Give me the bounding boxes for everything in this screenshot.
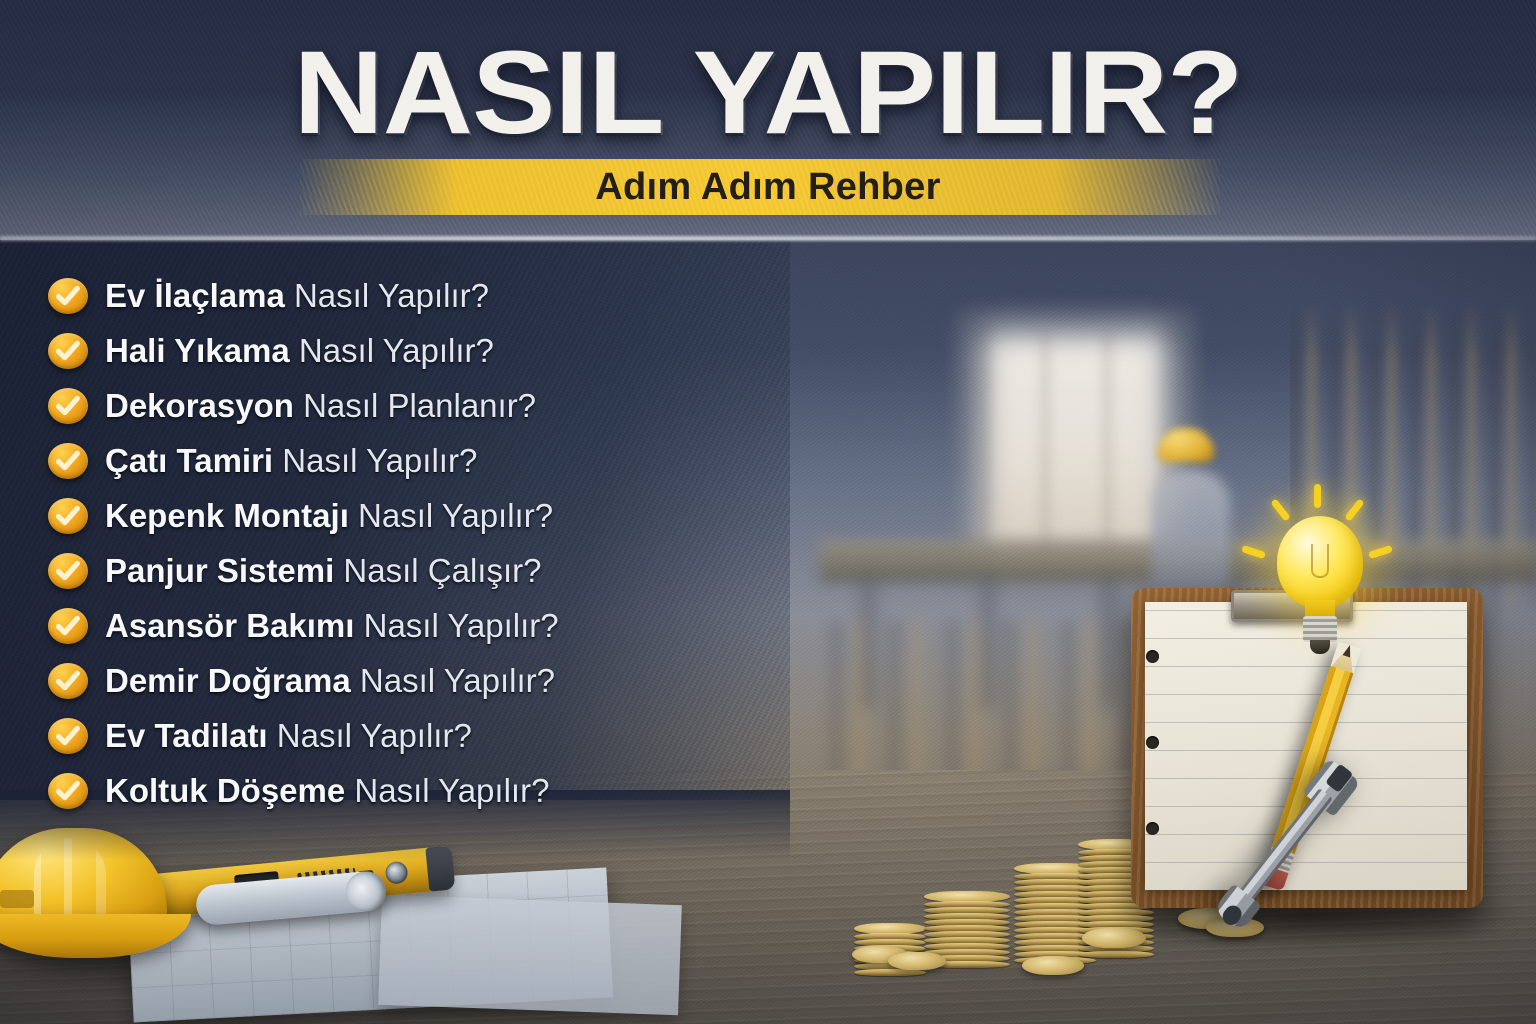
list-item-question: Nasıl Yapılır? xyxy=(268,717,472,754)
list-item-question: Nasıl Yapılır? xyxy=(273,442,477,479)
check-icon xyxy=(48,278,88,314)
check-icon xyxy=(48,663,88,699)
checklist: Ev İlaçlama Nasıl Yapılır?Hali Yıkama Na… xyxy=(48,268,748,818)
paper-hole-2 xyxy=(1146,736,1159,749)
page-subtitle: Adım Adım Rehber xyxy=(0,166,1536,209)
list-item-label: Panjur Sistemi Nasıl Çalışır? xyxy=(105,554,541,587)
list-item-question: Nasıl Yapılır? xyxy=(349,497,553,534)
poster-canvas: NASIL YAPILIR? Adım Adım Rehber Ev İlaçl… xyxy=(0,0,1536,1024)
coin-loose-3 xyxy=(1022,956,1084,975)
list-item-service: Kepenk Montajı xyxy=(105,497,349,534)
check-icon xyxy=(48,608,88,644)
list-item-question: Nasıl Planlanır? xyxy=(294,387,536,424)
list-item-label: Kepenk Montajı Nasıl Yapılır? xyxy=(105,499,553,532)
list-item-question: Nasıl Yapılır? xyxy=(345,772,549,809)
pencil-lead xyxy=(1342,644,1353,658)
paper-sheet-icon xyxy=(378,895,682,1015)
list-item-service: Çatı Tamiri xyxy=(105,442,273,479)
hard-hat-brim xyxy=(0,914,191,958)
list-item-question: Nasıl Yapılır? xyxy=(351,662,555,699)
list-item[interactable]: Çatı Tamiri Nasıl Yapılır? xyxy=(48,433,748,488)
list-item-label: Çatı Tamiri Nasıl Yapılır? xyxy=(105,444,477,477)
list-item-question: Nasıl Yapılır? xyxy=(285,277,489,314)
list-item-service: Hali Yıkama xyxy=(105,332,290,369)
bulb-screw-base xyxy=(1303,616,1337,642)
header: NASIL YAPILIR? Adım Adım Rehber xyxy=(0,0,1536,240)
list-item-label: Asansör Bakımı Nasıl Yapılır? xyxy=(105,609,559,642)
bulb-filament xyxy=(1311,544,1329,578)
list-item-label: Dekorasyon Nasıl Planlanır? xyxy=(105,389,536,422)
list-item[interactable]: Demir Doğrama Nasıl Yapılır? xyxy=(48,653,748,708)
list-item-service: Asansör Bakımı xyxy=(105,607,354,644)
coin-loose-2 xyxy=(888,952,946,970)
list-item-service: Panjur Sistemi xyxy=(105,552,334,589)
list-item[interactable]: Asansör Bakımı Nasıl Yapılır? xyxy=(48,598,748,653)
list-item-service: Koltuk Döşeme xyxy=(105,772,345,809)
check-icon xyxy=(48,498,88,534)
list-item-service: Demir Doğrama xyxy=(105,662,351,699)
paper-hole-3 xyxy=(1146,822,1159,835)
list-item-service: Ev İlaçlama xyxy=(105,277,285,314)
page-title: NASIL YAPILIR? xyxy=(0,34,1536,152)
list-item[interactable]: Panjur Sistemi Nasıl Çalışır? xyxy=(48,543,748,598)
check-icon xyxy=(48,718,88,754)
check-icon xyxy=(48,388,88,424)
coin-loose-4 xyxy=(1082,928,1146,948)
lightbulb-icon xyxy=(1253,492,1383,662)
list-item-label: Demir Doğrama Nasıl Yapılır? xyxy=(105,664,555,697)
check-icon xyxy=(48,443,88,479)
list-item-service: Ev Tadilatı xyxy=(105,717,268,754)
list-item[interactable]: Hali Yıkama Nasıl Yapılır? xyxy=(48,323,748,378)
check-icon xyxy=(48,333,88,369)
list-item[interactable]: Ev Tadilatı Nasıl Yapılır? xyxy=(48,708,748,763)
list-item-question: Nasıl Yapılır? xyxy=(290,332,494,369)
check-icon xyxy=(48,553,88,589)
list-item-question: Nasıl Yapılır? xyxy=(354,607,558,644)
bulb-ray-2 xyxy=(1270,498,1290,521)
list-item-label: Koltuk Döşeme Nasıl Yapılır? xyxy=(105,774,549,807)
hard-hat-slot xyxy=(0,890,34,908)
list-item[interactable]: Koltuk Döşeme Nasıl Yapılır? xyxy=(48,763,748,818)
list-item[interactable]: Ev İlaçlama Nasıl Yapılır? xyxy=(48,268,748,323)
list-item-label: Ev Tadilatı Nasıl Yapılır? xyxy=(105,719,472,752)
list-item[interactable]: Dekorasyon Nasıl Planlanır? xyxy=(48,378,748,433)
level-bubble-vial xyxy=(385,861,409,885)
list-item[interactable]: Kepenk Montajı Nasıl Yapılır? xyxy=(48,488,748,543)
coin-stacks-icon xyxy=(846,760,1146,990)
bulb-ray-3 xyxy=(1344,498,1364,521)
list-item-question: Nasıl Çalışır? xyxy=(334,552,541,589)
list-item-service: Dekorasyon xyxy=(105,387,294,424)
bulb-ray-1 xyxy=(1314,484,1321,508)
paper-hole-1 xyxy=(1146,650,1159,663)
list-item-label: Hali Yıkama Nasıl Yapılır? xyxy=(105,334,494,367)
check-icon xyxy=(48,773,88,809)
list-item-label: Ev İlaçlama Nasıl Yapılır? xyxy=(105,279,489,312)
coin-stack-2 xyxy=(924,892,1010,990)
bulb-contact-tip xyxy=(1310,640,1330,654)
